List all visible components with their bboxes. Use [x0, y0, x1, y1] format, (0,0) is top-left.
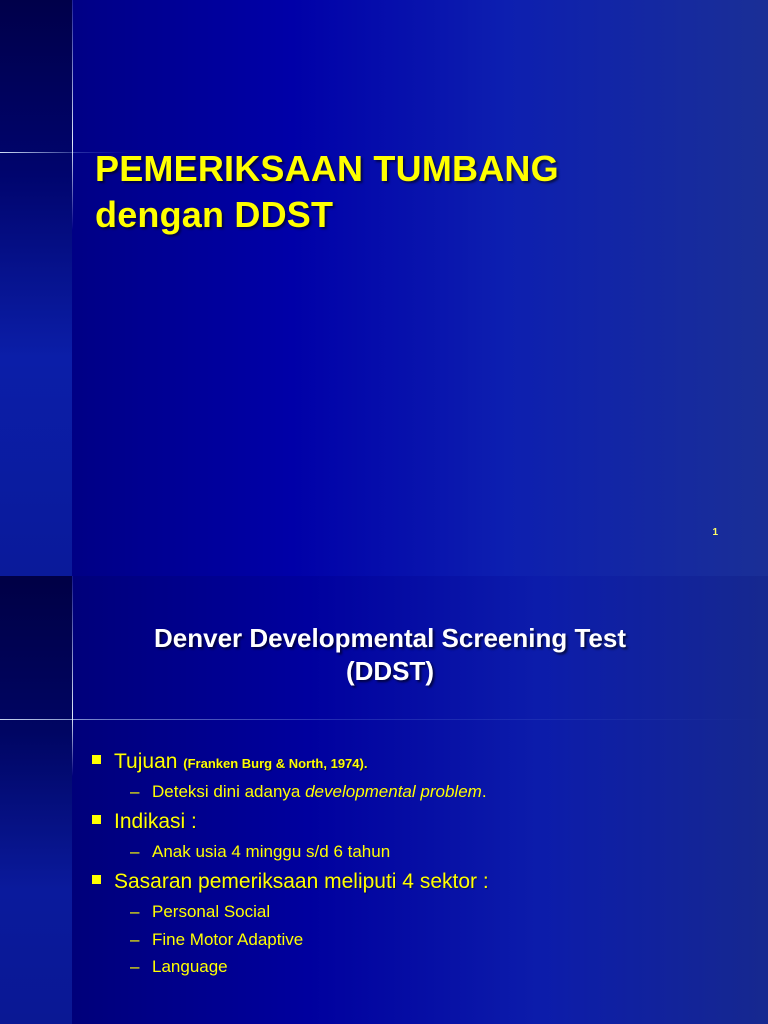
dash-bullet-icon: – — [130, 902, 152, 922]
list-item-note: (Franken Burg & North, 1974). — [183, 756, 367, 771]
list-item: Sasaran pemeriksaan meliputi 4 sektor : — [92, 867, 752, 897]
list-item-text: Deteksi dini adanya developmental proble… — [152, 779, 487, 805]
slide-2-title-line-2: (DDST) — [40, 655, 740, 688]
slide-1-page-number: 1 — [712, 527, 718, 538]
list-item: – Fine Motor Adaptive — [130, 927, 752, 953]
dash-bullet-icon: – — [130, 782, 152, 802]
slide-1-title-line-1: PEMERIKSAAN TUMBANG — [95, 146, 715, 192]
list-item: Indikasi : — [92, 807, 752, 837]
slide-1-vertical-rule — [72, 0, 73, 230]
dash-bullet-icon: – — [130, 842, 152, 862]
list-item: – Anak usia 4 minggu s/d 6 tahun — [130, 839, 752, 865]
list-item-text: Fine Motor Adaptive — [152, 927, 303, 953]
list-item-text: Indikasi : — [114, 807, 197, 837]
dash-bullet-icon: – — [130, 957, 152, 977]
square-bullet-icon — [92, 753, 114, 766]
square-bullet-icon — [92, 813, 114, 826]
slide-2-title-line-1: Denver Developmental Screening Test — [40, 622, 740, 655]
list-item: – Language — [130, 954, 752, 980]
list-item-label: Anak usia 4 minggu s/d 6 tahun — [152, 842, 390, 861]
list-item-text: Sasaran pemeriksaan meliputi 4 sektor : — [114, 867, 489, 897]
list-item-text: Personal Social — [152, 899, 270, 925]
list-item: Tujuan (Franken Burg & North, 1974). — [92, 747, 752, 777]
slide-2-horizontal-rule — [0, 719, 768, 720]
slide-1-title-line-2: dengan DDST — [95, 192, 715, 238]
list-item-label: Personal Social — [152, 902, 270, 921]
slide-2-title: Denver Developmental Screening Test (DDS… — [40, 622, 740, 689]
slide-2: Denver Developmental Screening Test (DDS… — [0, 576, 768, 1024]
slide-2-bullet-list: Tujuan (Franken Burg & North, 1974). – D… — [92, 747, 752, 982]
slide-1: PEMERIKSAAN TUMBANG dengan DDST 1 — [0, 0, 768, 576]
slide-1-title: PEMERIKSAAN TUMBANG dengan DDST — [95, 146, 715, 238]
list-item-suffix: . — [482, 782, 487, 801]
list-item-text: Tujuan (Franken Burg & North, 1974). — [114, 747, 367, 777]
dash-bullet-icon: – — [130, 930, 152, 950]
list-item-label: Tujuan — [114, 750, 183, 773]
list-item-emphasis: developmental problem — [305, 782, 482, 801]
list-item-text: Language — [152, 954, 228, 980]
list-item-label: Sasaran pemeriksaan meliputi 4 sektor : — [114, 870, 489, 893]
slide-1-left-panel — [0, 0, 72, 576]
list-item-text: Anak usia 4 minggu s/d 6 tahun — [152, 839, 390, 865]
list-item: – Personal Social — [130, 899, 752, 925]
list-item-label: Deteksi dini adanya — [152, 782, 305, 801]
list-item: – Deteksi dini adanya developmental prob… — [130, 779, 752, 805]
list-item-label: Indikasi : — [114, 810, 197, 833]
list-item-label: Language — [152, 957, 228, 976]
square-bullet-icon — [92, 873, 114, 886]
list-item-label: Fine Motor Adaptive — [152, 930, 303, 949]
slide-deck: PEMERIKSAAN TUMBANG dengan DDST 1 Denver… — [0, 0, 768, 1024]
